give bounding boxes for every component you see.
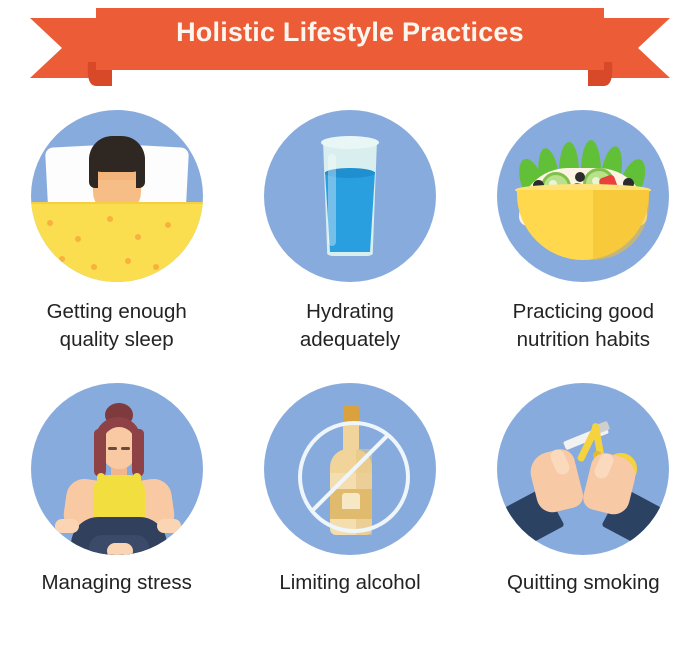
glass-rim [321,136,379,149]
practice-caption: Limiting alcohol [279,569,420,597]
title-banner: Holistic Lifestyle Practices [0,0,700,92]
scissors-cutting-cigarette-icon [497,383,669,555]
practice-card-alcohol[interactable]: Limiting alcohol [233,383,466,656]
hair-side-left [89,154,98,188]
meditating-woman-icon [31,383,203,555]
caption-line-2: nutrition habits [517,328,650,351]
glass-highlight [328,154,336,246]
practice-caption: Practicing good nutrition habits [513,298,654,354]
caption-line-1: Practicing good [513,300,654,323]
caption-line-2: adequately [300,328,400,351]
glass-of-water-icon [264,110,436,282]
foot [107,543,133,555]
practice-caption: Quitting smoking [507,569,660,597]
sleeping-person-in-bed-icon [31,110,203,282]
practice-card-sleep[interactable]: Getting enough quality sleep [0,110,233,383]
caption-line-1: Quitting smoking [507,571,660,594]
caption-line-1: Hydrating [306,300,394,323]
caption-line-1: Managing stress [41,571,191,594]
no-alcohol-bottle-icon [264,383,436,555]
hair-strand-right [132,429,144,477]
ribbon-shape [0,0,700,92]
practice-card-hydration[interactable]: Hydrating adequately [233,110,466,383]
practice-caption: Managing stress [41,569,191,597]
blanket [31,204,203,282]
practices-grid: Getting enough quality sleep Hydrating a… [0,110,700,656]
hair-strand-left [94,429,106,477]
hair-side-right [136,154,145,188]
practice-caption: Getting enough quality sleep [47,298,187,354]
practice-card-smoking[interactable]: Quitting smoking [467,383,700,656]
hand-left [55,519,79,533]
caption-line-1: Getting enough [47,300,187,323]
prohibition-circle-icon [298,421,410,533]
practice-caption: Hydrating adequately [300,298,400,354]
practice-card-nutrition[interactable]: Practicing good nutrition habits [467,110,700,383]
face [103,427,135,469]
salad-bowl-icon [497,110,669,282]
caption-line-1: Limiting alcohol [279,571,420,594]
practice-card-stress[interactable]: Managing stress [0,383,233,656]
hand-right [157,519,181,533]
caption-line-2: quality sleep [60,328,174,351]
bowl-shadow [593,190,649,260]
